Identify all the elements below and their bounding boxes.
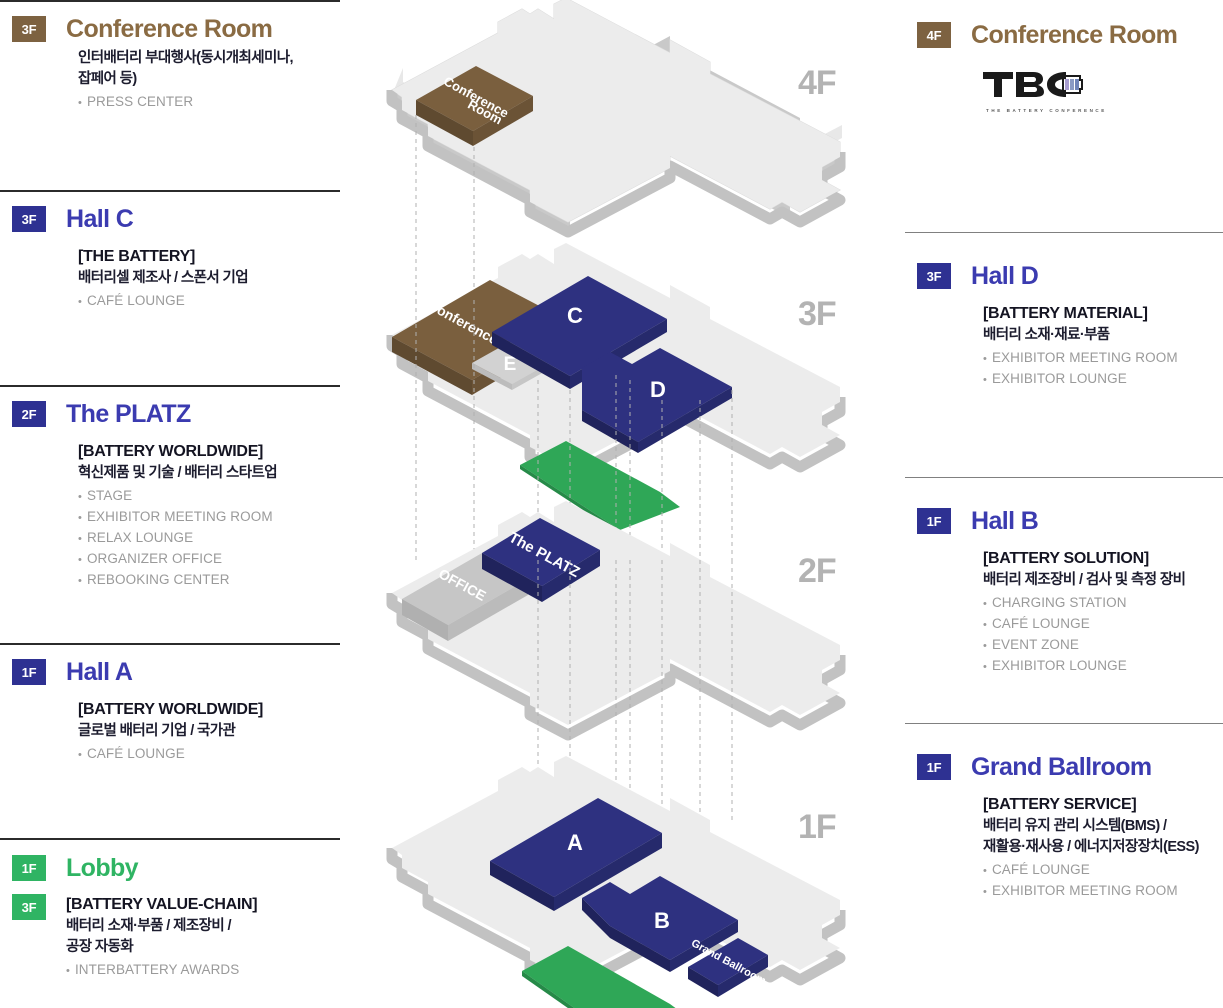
amenity-item: ORGANIZER OFFICE <box>78 549 340 570</box>
svg-text:C: C <box>567 303 583 328</box>
amenity-list: CAFÉ LOUNGE EXHIBITOR MEETING ROOM <box>983 860 1223 902</box>
amenity-item: INTERBATTERY AWARDS <box>66 960 257 981</box>
amenity-item: EVENT ZONE <box>983 635 1223 656</box>
legend-korean-line: 공장 자동화 <box>66 937 257 958</box>
amenity-list: INTERBATTERY AWARDS <box>66 960 257 981</box>
legend-title: Grand Ballroom <box>971 754 1152 780</box>
amenity-item: EXHIBITOR LOUNGE <box>983 656 1223 677</box>
svg-text:A: A <box>567 830 583 855</box>
floor-4f: Conference Room <box>392 0 842 235</box>
legend-tagline: [BATTERY SOLUTION] <box>983 547 1223 570</box>
amenity-item: EXHIBITOR MEETING ROOM <box>983 348 1223 369</box>
legend-korean-line: 글로벌 배터리 기업 / 국가관 <box>78 721 340 742</box>
floor-badge: 3F <box>12 894 46 920</box>
legend-korean-line: 배터리 소재·재료·부품 <box>983 325 1223 346</box>
floor-label-3f: 3F <box>798 295 836 334</box>
floor-label-1f: 1F <box>798 808 836 847</box>
floor-label-4f: 4F <box>798 64 836 103</box>
legend-title: Lobby <box>66 855 257 881</box>
amenity-item: EXHIBITOR MEETING ROOM <box>78 507 340 528</box>
legend-item-lobby[interactable]: 1F 3F Lobby [BATTERY VALUE-CHAIN] 배터리 소재… <box>0 838 340 981</box>
floor-label-2f: 2F <box>798 552 836 591</box>
legend-title: Conference Room <box>66 16 272 42</box>
legend-title: Conference Room <box>971 22 1177 48</box>
legend-title: Hall D <box>971 263 1038 289</box>
isometric-floorplan-diagram: Conference Room <box>370 0 890 1008</box>
amenity-item: EXHIBITOR MEETING ROOM <box>983 881 1223 902</box>
amenity-item: CAFÉ LOUNGE <box>983 614 1223 635</box>
legend-tagline: [THE BATTERY] <box>78 245 340 268</box>
legend-title: Hall B <box>971 508 1038 534</box>
amenity-list: PRESS CENTER <box>78 92 340 113</box>
svg-text:D: D <box>650 377 666 402</box>
floor-badge: 3F <box>917 263 951 289</box>
amenity-item: CAFÉ LOUNGE <box>78 291 340 312</box>
legend-item-hall-c[interactable]: 3F Hall C [THE BATTERY] 배터리셀 제조사 / 스폰서 기… <box>0 190 340 385</box>
legend-tagline: [BATTERY SERVICE] <box>983 793 1223 816</box>
floor-1f: A B Grand Ballroom <box>392 756 840 1008</box>
legend-item-hall-a[interactable]: 1F Hall A [BATTERY WORLDWIDE] 글로벌 배터리 기업… <box>0 643 340 838</box>
amenity-list: CHARGING STATION CAFÉ LOUNGE EVENT ZONE … <box>983 593 1223 677</box>
legend-korean-line: 배터리셀 제조사 / 스폰서 기업 <box>78 268 340 289</box>
svg-text:B: B <box>654 908 670 933</box>
amenity-item: CAFÉ LOUNGE <box>78 744 340 765</box>
floor-badge: 4F <box>917 22 951 48</box>
tbc-logo-subtitle: THE BATTERY CONFERENCE <box>986 108 1223 113</box>
amenity-list: CAFÉ LOUNGE <box>78 744 340 765</box>
amenity-item: CHARGING STATION <box>983 593 1223 614</box>
amenity-item: EXHIBITOR LOUNGE <box>983 369 1223 390</box>
amenity-list: STAGE EXHIBITOR MEETING ROOM RELAX LOUNG… <box>78 486 340 591</box>
legend-title: Hall C <box>66 206 133 232</box>
legend-tagline: [BATTERY WORLDWIDE] <box>78 698 340 721</box>
legend-korean-line: 배터리 유지 관리 시스템(BMS) / <box>983 816 1223 837</box>
amenity-item: RELAX LOUNGE <box>78 528 340 549</box>
legend-item-hall-b[interactable]: 1F Hall B [BATTERY SOLUTION] 배터리 제조장비 / … <box>905 477 1223 723</box>
legend-title: The PLATZ <box>66 401 191 427</box>
amenity-item: CAFÉ LOUNGE <box>983 860 1223 881</box>
lobby-floor-badges: 1F 3F <box>12 855 46 981</box>
legend-item-conference-room-3f[interactable]: 3F Conference Room 인터배터리 부대행사(동시개최세미나, 잡… <box>0 0 340 190</box>
floor-badge: 2F <box>12 401 46 427</box>
legend-korean-line: 인터배터리 부대행사(동시개최세미나, <box>78 48 340 69</box>
amenity-item: PRESS CENTER <box>78 92 340 113</box>
floor-badge: 3F <box>12 206 46 232</box>
floor-badge: 1F <box>12 855 46 881</box>
legend-tagline: [BATTERY MATERIAL] <box>983 302 1223 325</box>
amenity-list: CAFÉ LOUNGE <box>78 291 340 312</box>
amenity-item: REBOOKING CENTER <box>78 570 340 591</box>
legend-title: Hall A <box>66 659 132 685</box>
legend-tagline: [BATTERY WORLDWIDE] <box>78 440 340 463</box>
legend-item-hall-d[interactable]: 3F Hall D [BATTERY MATERIAL] 배터리 소재·재료·부… <box>905 232 1223 477</box>
right-legend-column: 4F Conference Room <box>905 0 1223 902</box>
tbc-logo-mark <box>983 70 1087 100</box>
legend-korean-line: 혁신제품 및 기술 / 배터리 스타트업 <box>78 463 340 484</box>
floor-badge: 1F <box>12 659 46 685</box>
legend-korean-line: 재활용·재사용 / 에너지저장장치(ESS) <box>983 837 1223 858</box>
legend-korean-line: 배터리 소재·부품 / 제조장비 / <box>66 916 257 937</box>
legend-item-the-platz[interactable]: 2F The PLATZ [BATTERY WORLDWIDE] 혁신제품 및 … <box>0 385 340 643</box>
amenity-list: EXHIBITOR MEETING ROOM EXHIBITOR LOUNGE <box>983 348 1223 390</box>
tbc-logo: THE BATTERY CONFERENCE <box>983 48 1223 113</box>
floor-badge: 1F <box>917 508 951 534</box>
legend-korean-line: 배터리 제조장비 / 검사 및 측정 장비 <box>983 570 1223 591</box>
floor-badge: 3F <box>12 16 46 42</box>
legend-tagline: [BATTERY VALUE-CHAIN] <box>66 893 257 916</box>
amenity-item: STAGE <box>78 486 340 507</box>
legend-item-conference-room-4f[interactable]: 4F Conference Room <box>905 22 1223 232</box>
venue-floorplan-page: 3F Conference Room 인터배터리 부대행사(동시개최세미나, 잡… <box>0 0 1223 1008</box>
left-legend-column: 3F Conference Room 인터배터리 부대행사(동시개최세미나, 잡… <box>0 0 340 981</box>
legend-korean-line: 잡페어 등) <box>78 69 340 90</box>
legend-item-grand-ballroom[interactable]: 1F Grand Ballroom [BATTERY SERVICE] 배터리 … <box>905 723 1223 902</box>
floor-badge: 1F <box>917 754 951 780</box>
